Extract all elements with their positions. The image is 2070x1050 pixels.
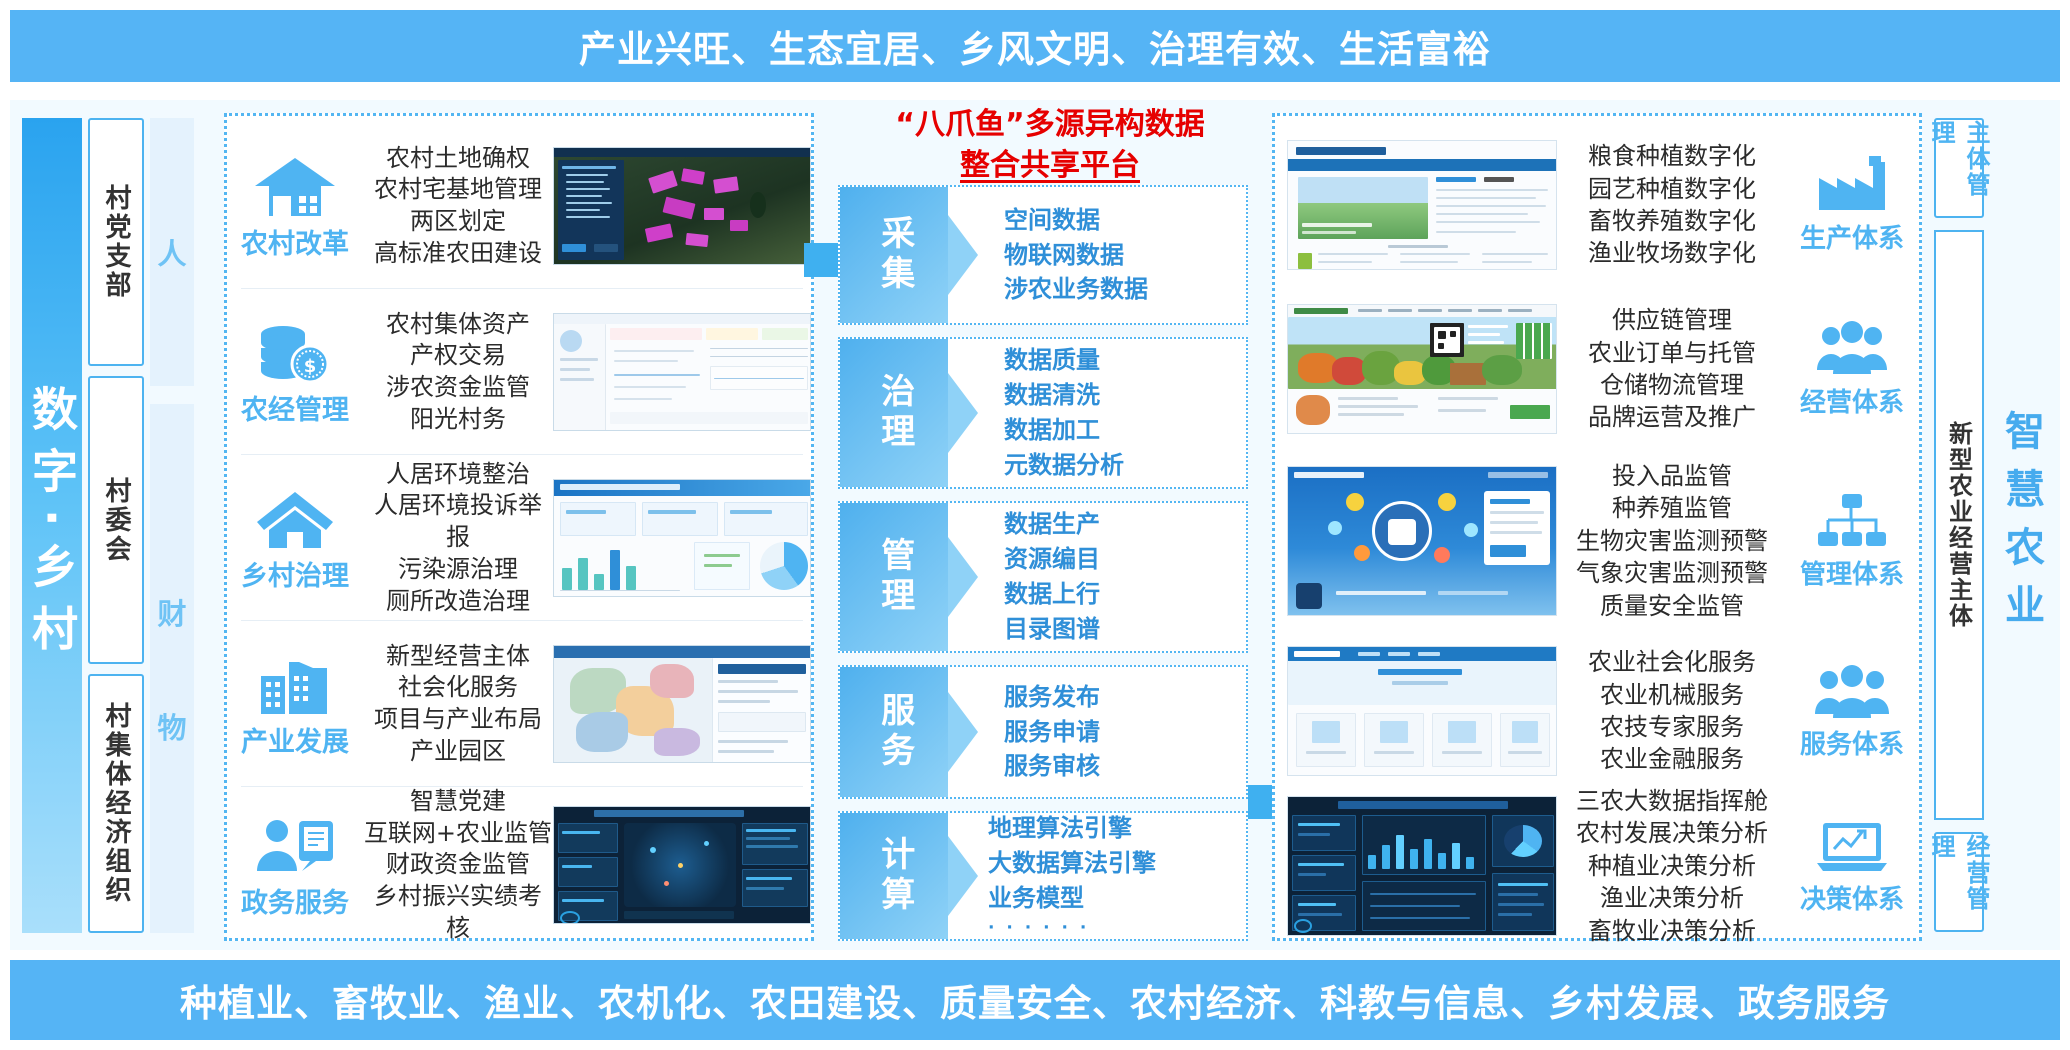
connector-plug-left <box>804 243 838 277</box>
stage-item: 大数据算法引擎 <box>988 846 1246 881</box>
system-item: 种植业决策分析 <box>1557 850 1787 882</box>
right-box-new-agri-operators[interactable]: 新型农业经营主体 <box>1934 230 1984 820</box>
infographic-root: 产业兴旺、生态宜居、乡风文明、治理有效、生活富裕 数字·乡村 村党支部 村委会 … <box>0 0 2070 1050</box>
resource-goods: 物 <box>157 705 186 747</box>
screenshot-industry-gis-map[interactable] <box>553 645 811 763</box>
stage-item: 地理算法引擎 <box>988 811 1246 846</box>
system-item: 农业社会化服务 <box>1557 646 1787 678</box>
octopus-platform-stages: 采集 空间数据 物联网数据 涉农业务数据 治理 数据质量 数据清洗 数据加工 元… <box>838 185 1248 941</box>
service-row-village-governance[interactable]: 乡村治理 人居环境整治 人居环境投诉举报 污染源治理 厕所改造治理 <box>227 458 817 618</box>
stage-item: 数据上行 <box>1004 577 1246 612</box>
system-item: 三农大数据指挥舱 <box>1557 785 1787 817</box>
screenshot-asset-management-console[interactable] <box>553 313 811 431</box>
stage-item: 服务发布 <box>1004 680 1246 715</box>
factory-icon <box>1815 156 1889 214</box>
stage-item: 空间数据 <box>1004 203 1246 238</box>
stage-items: 地理算法引擎 大数据算法引擎 业务模型 · · · · · · <box>948 813 1246 939</box>
stage-name-block: 管理 <box>840 503 948 651</box>
village-services-panel: 农村改革 农村土地确权 农村宅基地管理 两区划定 高标准农田建设 <box>224 113 814 941</box>
resource-people: 人 <box>150 118 194 386</box>
service-row-rural-economy[interactable]: $ 农经管理 农村集体资产 产权交易 涉农资金监管 阳光村务 <box>227 292 817 452</box>
service-item: 阳光村务 <box>363 404 553 436</box>
system-items: 粮食种植数字化 园艺种植数字化 畜牧养殖数字化 渔业牧场数字化 <box>1557 140 1787 270</box>
system-icon-block: 决策体系 <box>1787 817 1917 916</box>
right-rail-smart-agriculture: 智慧农业 <box>1992 118 2050 933</box>
system-item: 气象灾害监测预警 <box>1557 557 1787 589</box>
left-rail-title: 数字·乡村 <box>29 385 75 666</box>
stage-name: 治理 <box>875 373 912 453</box>
screenshot-food-safety-portal[interactable] <box>1287 466 1557 616</box>
resource-money: 财 <box>157 591 186 633</box>
service-item: 农村集体资产 <box>363 309 553 341</box>
stage-name-block: 计算 <box>840 813 948 939</box>
center-title-line1: “八爪鱼”多源异构数据 <box>855 105 1245 146</box>
service-item: 智慧党建 <box>363 786 553 818</box>
service-row-rural-reform[interactable]: 农村改革 农村土地确权 农村宅基地管理 两区划定 高标准农田建设 <box>227 126 817 286</box>
service-row-industry-development[interactable]: 产业发展 新型经营主体 社会化服务 项目与产业布局 产业园区 <box>227 624 817 784</box>
screenshot-party-building-bigscreen[interactable] <box>553 806 811 924</box>
stage-items: 服务发布 服务申请 服务审核 <box>948 667 1246 797</box>
org-chart-icon <box>1815 492 1889 550</box>
system-item: 农业机械服务 <box>1557 679 1787 711</box>
stage-name-block: 治理 <box>840 339 948 487</box>
stage-manage[interactable]: 管理 数据生产 资源编目 数据上行 目录图谱 <box>838 501 1248 653</box>
system-name: 决策体系 <box>1800 879 1904 916</box>
center-platform-title: “八爪鱼”多源异构数据 整合共享平台 <box>855 105 1245 186</box>
stage-name: 服务 <box>875 692 912 772</box>
system-item: 农业订单与托管 <box>1557 337 1787 369</box>
service-item: 互联网+农业监管 <box>363 818 553 850</box>
stage-item: 数据加工 <box>1004 413 1246 448</box>
system-item: 仓储物流管理 <box>1557 369 1787 401</box>
stage-item: 资源编目 <box>1004 542 1246 577</box>
stage-item: 涉农业务数据 <box>1004 272 1246 307</box>
service-item: 财政资金监管 <box>363 849 553 881</box>
system-items: 投入品监管 种养殖监管 生物灾害监测预警 气象灾害监测预警 质量安全监管 <box>1557 460 1787 622</box>
service-item: 乡村振兴实绩考核 <box>363 881 553 944</box>
stage-item: 数据生产 <box>1004 507 1246 542</box>
system-name: 管理体系 <box>1800 554 1904 591</box>
system-name: 生产体系 <box>1800 218 1904 255</box>
system-item: 种养殖监管 <box>1557 492 1787 524</box>
system-name: 经营体系 <box>1800 382 1904 419</box>
screenshot-satellite-parcel-map[interactable] <box>553 147 811 265</box>
system-item: 畜牧养殖数字化 <box>1557 205 1787 237</box>
resource-money-goods: 财 物 <box>150 404 194 933</box>
row-separator <box>241 454 803 455</box>
stage-name: 管理 <box>875 537 912 617</box>
screenshot-decision-bigscreen[interactable] <box>1287 796 1557 936</box>
service-item: 两区划定 <box>363 206 553 238</box>
row-separator <box>241 288 803 289</box>
service-item: 农村土地确权 <box>363 143 553 175</box>
system-item: 生物灾害监测预警 <box>1557 525 1787 557</box>
screenshot-agri-portal-website[interactable] <box>1287 140 1557 270</box>
service-icon-block: $ 农经管理 <box>227 318 363 427</box>
system-item: 粮食种植数字化 <box>1557 140 1787 172</box>
row-separator <box>241 620 803 621</box>
stage-item: 服务审核 <box>1004 749 1246 784</box>
stage-item: · · · · · · <box>988 916 1246 941</box>
org-units-column: 村党支部 村委会 村集体经济组织 <box>88 118 144 933</box>
service-icon-block: 产业发展 <box>227 650 363 759</box>
system-item: 园艺种植数字化 <box>1557 173 1787 205</box>
system-item: 渔业牧场数字化 <box>1557 237 1787 269</box>
service-item: 项目与产业布局 <box>363 704 553 736</box>
right-box-operation-management[interactable]: 经营管理 <box>1934 832 1984 932</box>
service-name: 产业发展 <box>241 720 349 759</box>
service-items: 农村集体资产 产权交易 涉农资金监管 阳光村务 <box>363 309 553 436</box>
org-unit-party-branch[interactable]: 村党支部 <box>88 118 144 366</box>
service-items: 农村土地确权 农村宅基地管理 两区划定 高标准农田建设 <box>363 143 553 270</box>
service-row-government-service[interactable]: 政务服务 智慧党建 互联网+农业监管 财政资金监管 乡村振兴实绩考核 <box>227 790 817 940</box>
right-box-subject-management[interactable]: 主体管理 <box>1934 118 1984 218</box>
system-row-management[interactable]: 投入品监管 种养殖监管 生物灾害监测预警 气象灾害监测预警 质量安全监管 管理体… <box>1275 452 1925 630</box>
coins-dollar-icon: $ <box>253 318 337 384</box>
right-box-label: 新型农业经营主体 <box>1942 421 1977 629</box>
service-item: 新型经营主体 <box>363 641 553 673</box>
service-icon-block: 乡村治理 <box>227 484 363 593</box>
system-items: 供应链管理 农业订单与托管 仓储物流管理 品牌运营及推广 <box>1557 304 1787 434</box>
stage-item: 元数据分析 <box>1004 448 1246 483</box>
system-items: 农业社会化服务 农业机械服务 农技专家服务 农业金融服务 <box>1557 646 1787 776</box>
system-icon-block: 管理体系 <box>1787 492 1917 591</box>
home-icon <box>253 484 337 550</box>
system-row-service[interactable]: 农业社会化服务 农业机械服务 农技专家服务 农业金融服务 服务体系 <box>1275 632 1925 790</box>
right-box-label: 经营管理 <box>1924 834 1994 930</box>
org-unit-village-committee[interactable]: 村委会 <box>88 376 144 664</box>
service-item: 产权交易 <box>363 340 553 372</box>
system-item: 农技专家服务 <box>1557 711 1787 743</box>
right-box-label: 主体管理 <box>1924 120 1994 216</box>
system-item: 农村发展决策分析 <box>1557 817 1787 849</box>
stage-item: 目录图谱 <box>1004 612 1246 647</box>
left-rail-digital-village: 数字·乡村 <box>22 118 82 933</box>
org-unit-label: 村集体经济组织 <box>103 702 129 905</box>
system-item: 供应链管理 <box>1557 304 1787 336</box>
stage-item: 数据质量 <box>1004 343 1246 378</box>
service-icon-block: 政务服务 <box>227 811 363 920</box>
org-unit-label: 村党支部 <box>103 184 129 300</box>
people-group-icon <box>1815 320 1889 378</box>
bottom-banner: 种植业、畜牧业、渔业、农机化、农田建设、质量安全、农村经济、科教与信息、乡村发展… <box>10 960 2060 1040</box>
system-row-production[interactable]: 粮食种植数字化 园艺种植数字化 畜牧养殖数字化 渔业牧场数字化 生产体系 <box>1275 124 1925 286</box>
smart-agriculture-panel: 粮食种植数字化 园艺种植数字化 畜牧养殖数字化 渔业牧场数字化 生产体系 <box>1272 113 1922 941</box>
stage-item: 服务申请 <box>1004 715 1246 750</box>
service-name: 政务服务 <box>241 881 349 920</box>
service-item: 高标准农田建设 <box>363 238 553 270</box>
stage-item: 业务模型 <box>988 881 1246 916</box>
org-unit-collective-economy[interactable]: 村集体经济组织 <box>88 674 144 933</box>
svg-text:$: $ <box>304 356 317 377</box>
system-item: 品牌运营及推广 <box>1557 401 1787 433</box>
system-icon-block: 生产体系 <box>1787 156 1917 255</box>
house-roof-icon <box>253 152 337 218</box>
service-item: 人居环境投诉举报 <box>363 490 553 553</box>
stage-name-block: 服务 <box>840 667 948 797</box>
stage-item: 数据清洗 <box>1004 378 1246 413</box>
screenshot-traceability-vegetables[interactable] <box>1287 304 1557 434</box>
stage-item: 物联网数据 <box>1004 238 1246 273</box>
service-item: 农村宅基地管理 <box>363 174 553 206</box>
service-person-icon <box>253 811 337 877</box>
resource-column: 人 财 物 <box>150 118 194 933</box>
service-items: 新型经营主体 社会化服务 项目与产业布局 产业园区 <box>363 641 553 768</box>
stage-service[interactable]: 服务 服务发布 服务申请 服务审核 <box>838 665 1248 799</box>
stage-govern[interactable]: 治理 数据质量 数据清洗 数据加工 元数据分析 <box>838 337 1248 489</box>
stage-items: 空间数据 物联网数据 涉农业务数据 <box>948 187 1246 323</box>
stage-name: 计算 <box>875 836 912 916</box>
service-item: 社会化服务 <box>363 672 553 704</box>
service-icon-block: 农村改革 <box>227 152 363 261</box>
stage-compute[interactable]: 计算 地理算法引擎 大数据算法引擎 业务模型 · · · · · · <box>838 811 1248 941</box>
org-unit-label: 村委会 <box>103 477 129 564</box>
stage-collect[interactable]: 采集 空间数据 物联网数据 涉农业务数据 <box>838 185 1248 325</box>
system-row-operation[interactable]: 供应链管理 农业订单与托管 仓储物流管理 品牌运营及推广 经营体系 <box>1275 288 1925 450</box>
system-icon-block: 服务体系 <box>1787 662 1917 761</box>
screenshot-service-platform-portal[interactable] <box>1287 646 1557 776</box>
service-item: 涉农资金监管 <box>363 372 553 404</box>
service-item: 产业园区 <box>363 736 553 768</box>
service-name: 农经管理 <box>241 388 349 427</box>
system-row-decision[interactable]: 三农大数据指挥舱 农村发展决策分析 种植业决策分析 渔业决策分析 畜牧业决策分析… <box>1275 792 1925 940</box>
service-team-icon <box>1815 662 1889 720</box>
stage-items: 数据质量 数据清洗 数据加工 元数据分析 <box>948 339 1246 487</box>
service-items: 智慧党建 互联网+农业监管 财政资金监管 乡村振兴实绩考核 <box>363 786 553 944</box>
system-item: 投入品监管 <box>1557 460 1787 492</box>
stage-name: 采集 <box>875 215 912 295</box>
service-name: 农村改革 <box>241 222 349 261</box>
stage-name-block: 采集 <box>840 187 948 323</box>
system-icon-block: 经营体系 <box>1787 320 1917 419</box>
system-item: 渔业决策分析 <box>1557 882 1787 914</box>
stage-items: 数据生产 资源编目 数据上行 目录图谱 <box>948 503 1246 651</box>
right-rail-title: 智慧农业 <box>1992 410 2050 642</box>
service-name: 乡村治理 <box>241 554 349 593</box>
system-item: 质量安全监管 <box>1557 590 1787 622</box>
buildings-icon <box>253 650 337 716</box>
service-item: 厕所改造治理 <box>363 586 553 618</box>
service-items: 人居环境整治 人居环境投诉举报 污染源治理 厕所改造治理 <box>363 459 553 617</box>
service-item: 污染源治理 <box>363 554 553 586</box>
system-items: 三农大数据指挥舱 农村发展决策分析 种植业决策分析 渔业决策分析 畜牧业决策分析 <box>1557 785 1787 947</box>
top-banner: 产业兴旺、生态宜居、乡风文明、治理有效、生活富裕 <box>10 10 2060 82</box>
service-item: 人居环境整治 <box>363 459 553 491</box>
system-item: 畜牧业决策分析 <box>1557 915 1787 947</box>
laptop-chart-icon <box>1815 817 1889 875</box>
system-name: 服务体系 <box>1800 724 1904 761</box>
system-item: 农业金融服务 <box>1557 743 1787 775</box>
screenshot-governance-dashboard[interactable] <box>553 479 811 597</box>
center-title-line2: 整合共享平台 <box>855 146 1245 187</box>
